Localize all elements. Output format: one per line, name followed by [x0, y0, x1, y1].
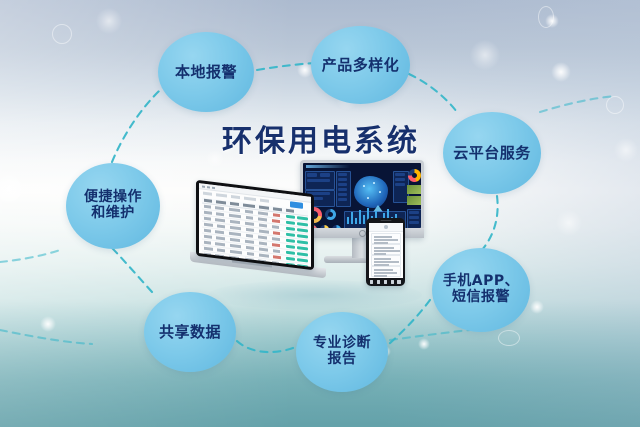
nav-icon[interactable]	[370, 280, 373, 283]
connector-easy-to-local	[112, 80, 172, 162]
status-badge	[297, 228, 308, 233]
feature-bubble-cloud-platform[interactable]: 云平台服务	[443, 112, 541, 194]
monitor-chin	[300, 228, 424, 238]
data-table	[199, 183, 311, 267]
nav-icon[interactable]	[377, 280, 380, 283]
dashboard-kpi-tile	[338, 183, 347, 186]
dashboard-kpi-tile	[395, 183, 405, 186]
dashboard-kpi-tile	[409, 221, 419, 224]
list-item[interactable]	[371, 233, 401, 244]
connector-product-to-cloud	[409, 74, 457, 112]
status-badge	[286, 220, 295, 225]
feature-bubble-shared-data[interactable]: 共享数据	[144, 292, 236, 372]
status-badge	[286, 226, 295, 231]
feature-bubble-label: 共享数据	[155, 324, 225, 341]
bar	[351, 212, 353, 224]
dashboard-donut-chart	[325, 209, 336, 220]
china-map-visual	[354, 176, 388, 208]
laptop	[196, 180, 314, 270]
feature-bubble-label: 云平台服务	[449, 145, 535, 162]
status-badge	[286, 214, 295, 219]
feature-bubble-label: 便捷操作 和维护	[80, 190, 146, 221]
dashboard-header-bar	[306, 165, 350, 168]
list-item[interactable]	[371, 266, 401, 277]
dashboard-kpi-tile	[395, 178, 405, 181]
connector-report-to-shared	[234, 338, 293, 352]
connector-shared-to-easy	[112, 248, 152, 292]
status-badge	[297, 216, 308, 221]
dashboard-kpi-tile	[338, 193, 347, 196]
dashboard-kpi-tile	[320, 173, 330, 177]
nav-icon[interactable]	[391, 280, 394, 283]
page-title: 环保用电系统	[222, 116, 420, 160]
status-badge	[297, 222, 308, 227]
nav-icon[interactable]	[384, 280, 387, 283]
bar	[363, 215, 365, 224]
status-badge	[297, 246, 308, 251]
connector-local-to-product	[257, 63, 315, 70]
map-marker	[379, 191, 381, 193]
dashboard-kpi-tile	[338, 198, 347, 201]
map-marker	[373, 182, 375, 184]
connector-tail-right	[540, 96, 616, 112]
feature-bubble-product-diversity[interactable]: 产品多样化	[311, 26, 410, 104]
status-badge	[297, 234, 308, 239]
nav-icon[interactable]	[397, 280, 400, 283]
dashboard-kpi-tile	[338, 188, 347, 191]
smartphone	[366, 218, 405, 286]
status-badge	[286, 244, 295, 249]
connector-tail-left	[0, 250, 60, 262]
status-badge	[297, 240, 308, 245]
laptop-screen	[199, 183, 311, 267]
feature-bubble-mobile-app-sms[interactable]: 手机APP、 短信报警	[432, 248, 530, 332]
dashboard-kpi-tile	[338, 173, 347, 176]
list-item[interactable]	[371, 244, 401, 255]
status-badge	[286, 232, 295, 237]
feature-bubble-diagnostic-report[interactable]: 专业诊断 报告	[296, 312, 388, 392]
feature-bubble-label: 产品多样化	[318, 57, 404, 74]
dashboard-kpi-tile	[338, 178, 347, 181]
connector-tail-bottom-left	[0, 330, 92, 344]
status-badge	[297, 258, 308, 263]
feature-bubble-label: 专业诊断 报告	[309, 336, 375, 367]
monitor-logo-icon	[359, 230, 366, 237]
phone-earpiece	[380, 220, 391, 222]
feature-bubble-label: 本地报警	[171, 64, 241, 81]
dashboard-donut-chart	[408, 169, 421, 182]
status-badge	[297, 252, 308, 257]
dashboard-kpi-tile	[307, 179, 330, 182]
dashboard-video-thumb	[407, 185, 421, 194]
feature-bubble-local-alarm[interactable]: 本地报警	[158, 32, 254, 112]
status-badge	[286, 256, 295, 261]
status-badge	[297, 264, 308, 267]
status-badge	[286, 250, 295, 255]
phone-screen	[369, 223, 403, 278]
status-badge	[286, 238, 295, 243]
phone-app-header	[369, 223, 403, 232]
connector-cloud-to-mobile	[482, 196, 498, 250]
avatar	[384, 225, 388, 229]
bar	[347, 217, 349, 224]
bar	[359, 210, 361, 224]
dashboard-kpi-tile	[395, 173, 405, 176]
feature-bubble-easy-operation[interactable]: 便捷操作 和维护	[66, 163, 160, 249]
status-badge	[286, 262, 295, 266]
device-cluster	[196, 160, 432, 310]
feature-bubble-label: 手机APP、 短信报警	[439, 274, 523, 305]
bar	[355, 218, 357, 224]
poster-canvas: 环保用电系统	[0, 0, 640, 427]
dashboard-kpi-tile	[409, 216, 419, 219]
map-marker	[367, 197, 369, 199]
desktop-monitor	[300, 160, 424, 238]
list-item[interactable]	[371, 255, 401, 266]
dashboard-kpi-tile	[307, 173, 317, 177]
dashboard-video-thumb	[407, 196, 421, 205]
map-marker	[363, 185, 365, 187]
phone-nav-bar[interactable]	[369, 280, 403, 285]
dashboard-kpi-tile	[409, 211, 419, 214]
